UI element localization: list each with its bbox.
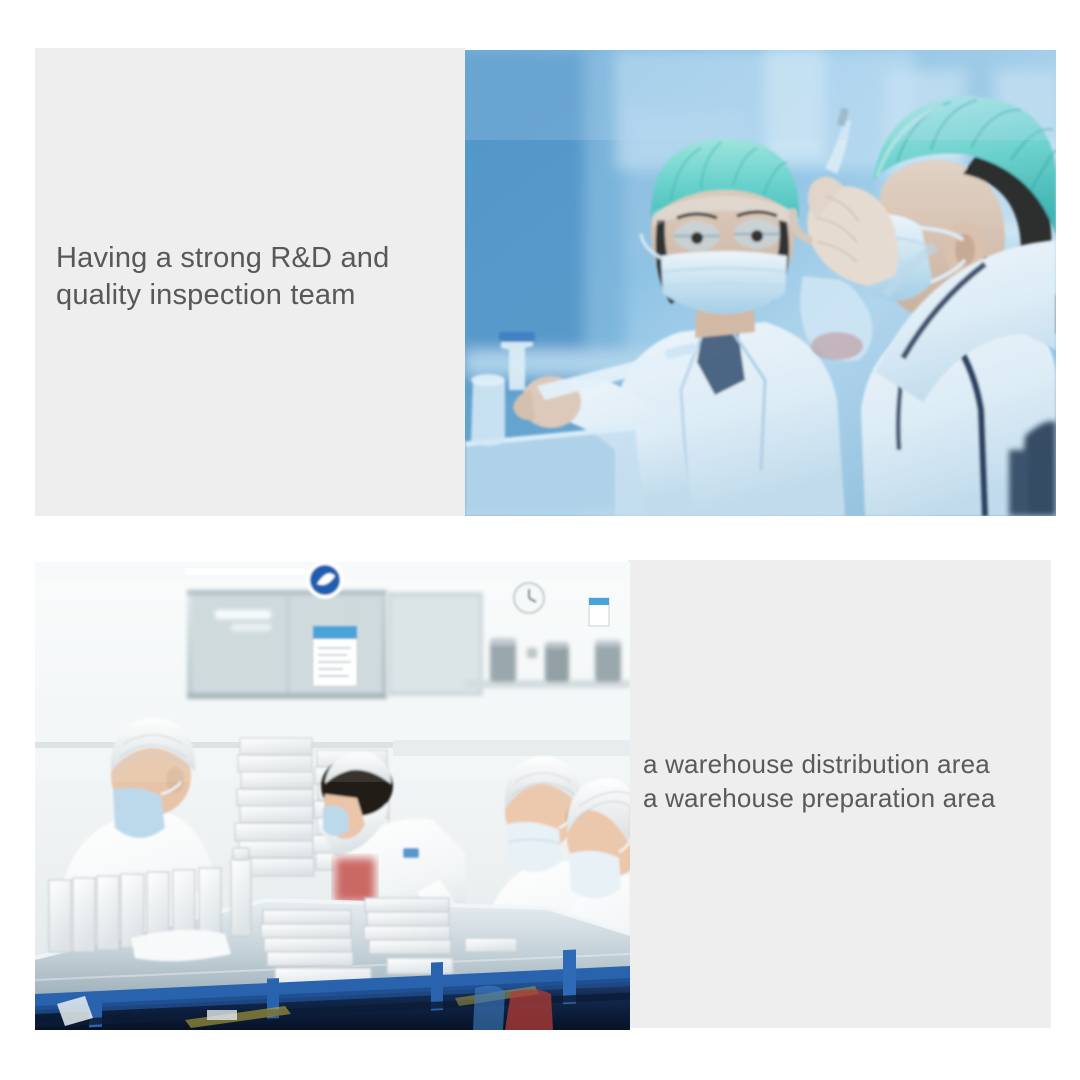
lab-inspection-illustration <box>465 50 1056 516</box>
lab-inspection-photo <box>465 50 1056 516</box>
warehouse-packing-photo <box>35 562 630 1030</box>
bottom-section: a warehouse distribution area a warehous… <box>35 560 1051 1030</box>
page-root: Having a strong R&D and quality inspecti… <box>0 0 1080 1080</box>
bottom-caption: a warehouse distribution area a warehous… <box>643 747 1053 816</box>
warehouse-packing-illustration <box>35 562 630 1030</box>
top-section: Having a strong R&D and quality inspecti… <box>35 48 1056 516</box>
top-caption: Having a strong R&D and quality inspecti… <box>56 240 456 314</box>
